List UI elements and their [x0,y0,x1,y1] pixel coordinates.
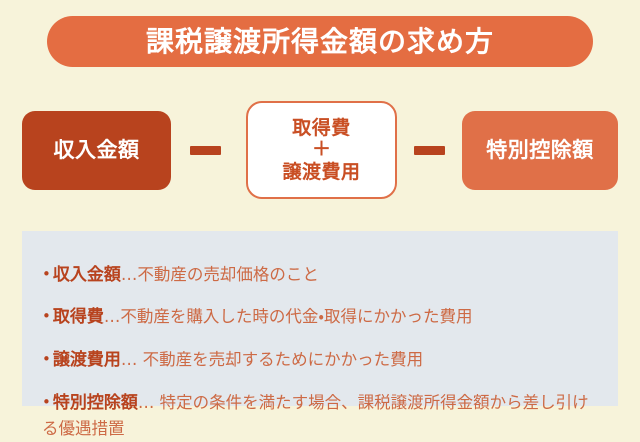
list-item: •特別控除額… 特定の条件を満たす場合、課税譲渡所得金額から差し引ける優遇措置 [22,390,618,442]
minus-operator-icon-2 [414,146,445,155]
formula-box-costs: 取得費 ＋ 譲渡費用 [246,101,397,199]
definitions-panel: •収入金額…不動産の売却価格のこと •取得費…不動産を購入した時の代金・取得にか… [22,231,618,406]
formula-row: 収入金額 取得費 ＋ 譲渡費用 特別控除額 [0,100,640,200]
definition-description: 不動産の売却価格のこと [137,265,319,284]
plus-operator-icon: ＋ [312,139,331,161]
formula-box-income-label: 収入金額 [54,138,140,163]
formula-box-costs-label-1: 取得費 [292,117,351,139]
definition-term: 収入金額 [53,265,121,285]
bullet-icon: • [42,307,51,325]
page-title: 課税譲渡所得金額の求め方 [146,28,494,56]
definition-separator: … [138,393,155,412]
tax-calculation-infographic: { "page": { "background_color": "#f7f3da… [0,0,640,426]
minus-operator-icon-1 [190,146,221,155]
definition-description: 不動産を購入した時の代金・取得にかかった費用 [120,307,472,326]
formula-box-deduction-label: 特別控除額 [486,138,594,163]
list-item: •収入金額…不動産の売却価格のこと [22,262,618,288]
list-item: •取得費…不動産を購入した時の代金・取得にかかった費用 [22,304,618,330]
list-item: •譲渡費用… 不動産を売却するためにかかった費用 [22,347,618,373]
definition-separator: … [121,350,138,369]
definition-term: 譲渡費用 [53,350,121,370]
formula-box-costs-label-2: 譲渡費用 [282,161,360,183]
definition-term: 取得費 [53,307,104,327]
bullet-icon: • [42,350,51,368]
definition-term: 特別控除額 [53,393,138,413]
formula-box-deduction: 特別控除額 [462,111,618,190]
definition-separator: … [104,307,121,326]
bullet-icon: • [42,265,51,283]
definition-description: 不動産を売却するためにかかった費用 [137,350,423,369]
formula-box-income: 収入金額 [22,111,171,190]
bullet-icon: • [42,393,51,411]
page-title-pill: 課税譲渡所得金額の求め方 [47,16,593,67]
definition-separator: … [121,265,138,284]
